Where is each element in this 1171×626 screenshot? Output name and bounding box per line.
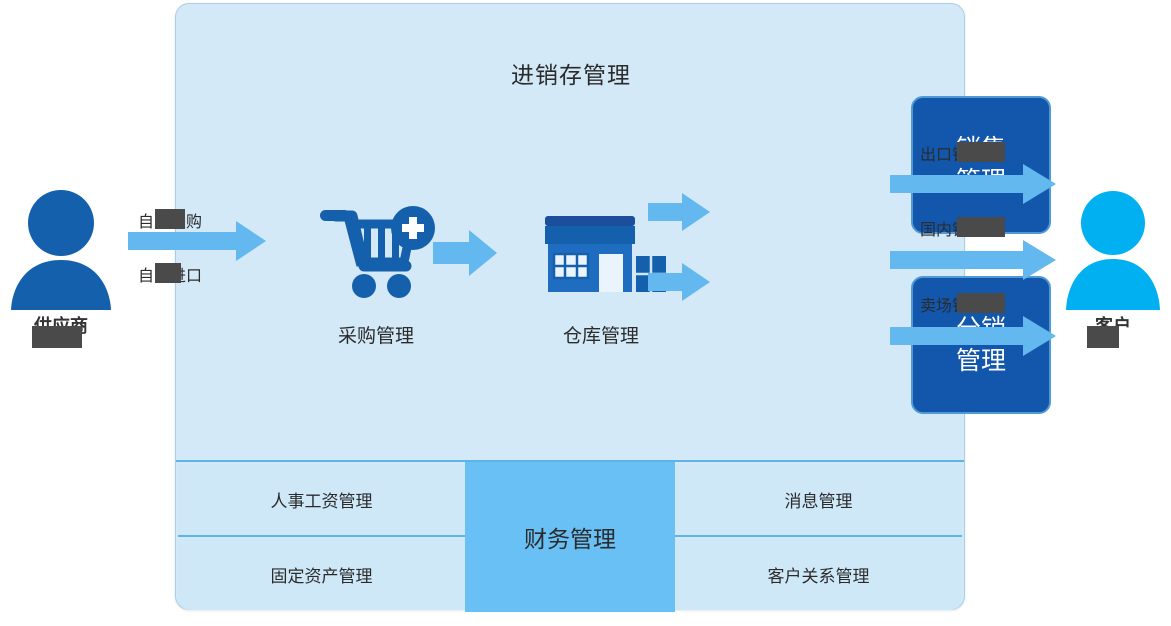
module-hr-payroll[interactable]: 人事工资管理 bbox=[178, 464, 465, 537]
redaction-flow-domestic bbox=[957, 217, 1005, 237]
erp-system-container: 进销存管理 采购管理 bbox=[175, 3, 965, 610]
module-label-fixed-asset: 固定资产管理 bbox=[271, 562, 373, 587]
arrow-export-sales bbox=[890, 163, 1058, 205]
module-finance[interactable]: 财务管理 bbox=[465, 462, 675, 612]
module-label-message: 消息管理 bbox=[785, 487, 853, 512]
person-icon bbox=[1058, 186, 1168, 311]
module-label-crm: 客户关系管理 bbox=[768, 562, 870, 587]
arrow-domestic-sales bbox=[890, 239, 1058, 281]
redaction-supplier-label bbox=[32, 326, 82, 348]
bottom-modules-grid: 人事工资管理 固定资产管理 财务管理 消息管理 客户关系管理 bbox=[176, 460, 964, 612]
arrow-purchase-to-warehouse bbox=[431, 226, 501, 280]
module-message[interactable]: 消息管理 bbox=[675, 464, 962, 537]
redaction-flow-procurement bbox=[155, 209, 185, 229]
arrow-store-sales bbox=[890, 315, 1058, 357]
shopping-cart-plus-icon bbox=[316, 200, 436, 310]
node-label-purchase: 采购管理 bbox=[286, 321, 466, 348]
redaction-flow-export bbox=[957, 142, 1005, 162]
node-label-warehouse: 仓库管理 bbox=[511, 321, 691, 348]
redaction-flow-store bbox=[957, 293, 1005, 313]
person-icon bbox=[2, 186, 120, 311]
module-label-hr: 人事工资管理 bbox=[271, 487, 373, 512]
container-title: 进销存管理 bbox=[176, 56, 966, 90]
redaction-customer-label bbox=[1087, 326, 1119, 348]
arrow-warehouse-to-distribution bbox=[646, 260, 714, 304]
arrow-warehouse-to-sales bbox=[646, 190, 714, 234]
redaction-flow-import bbox=[155, 263, 181, 283]
module-fixed-asset[interactable]: 固定资产管理 bbox=[178, 539, 465, 610]
module-label-finance: 财务管理 bbox=[524, 520, 616, 554]
module-crm[interactable]: 客户关系管理 bbox=[675, 539, 962, 610]
